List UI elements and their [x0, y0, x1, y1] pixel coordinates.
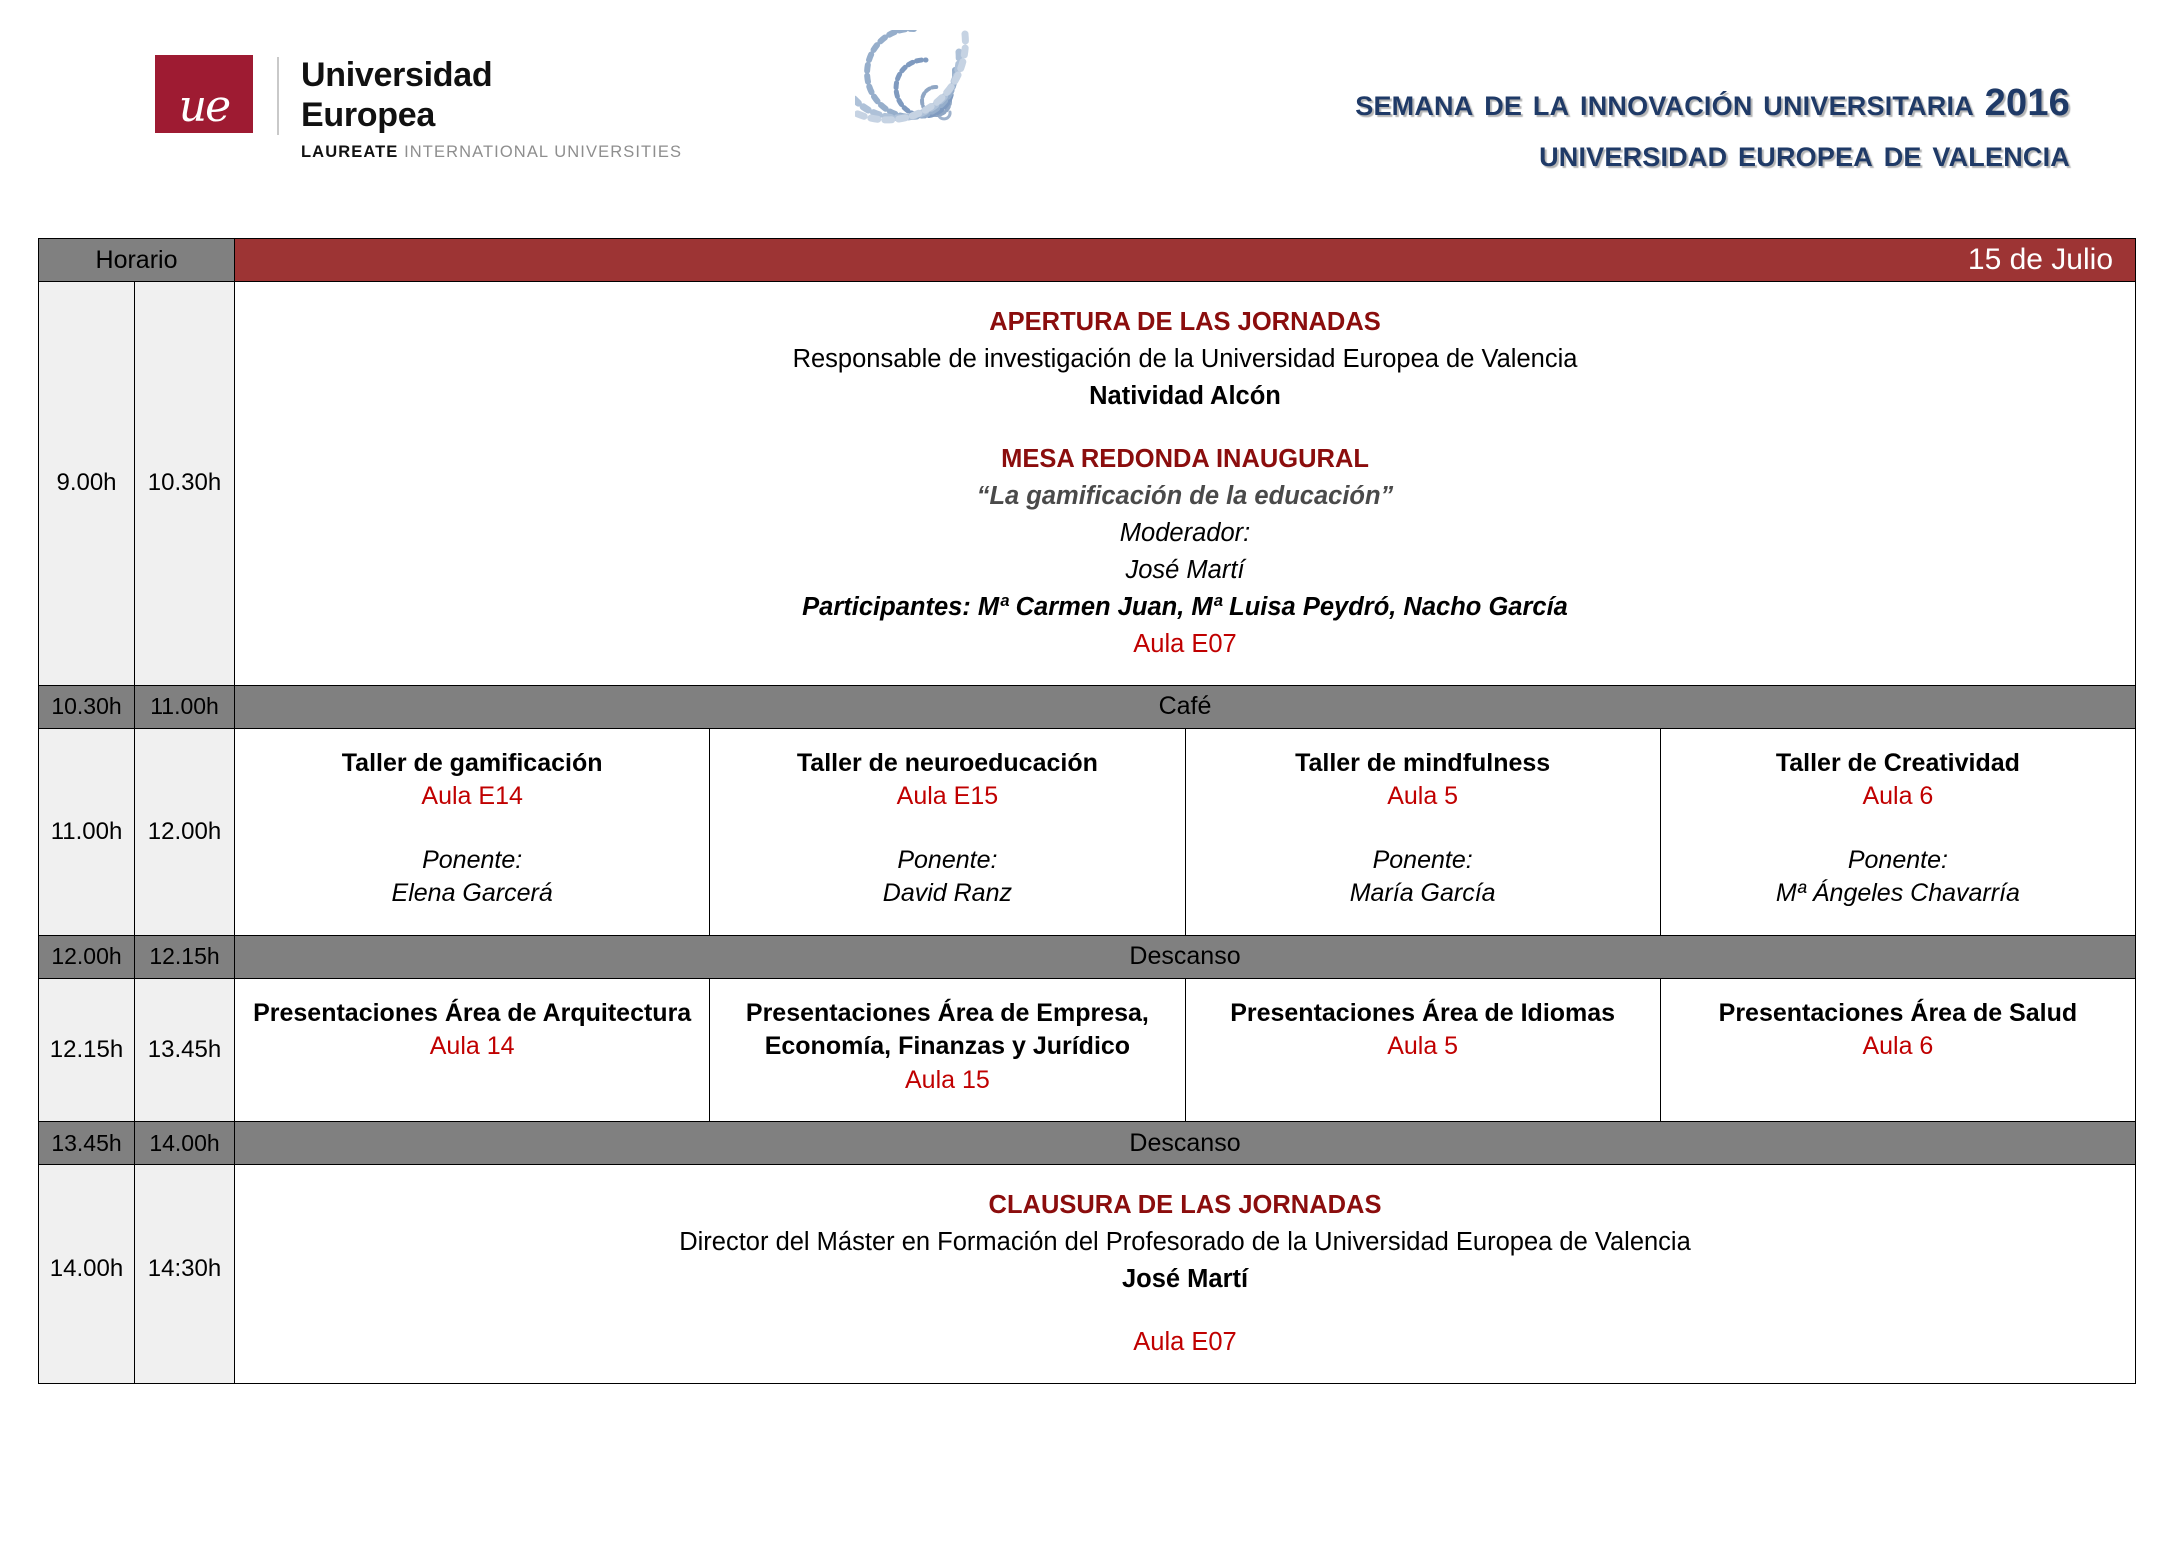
- logo-divider: [277, 57, 279, 135]
- roundtable-role: Moderador:: [245, 515, 2125, 552]
- workshop-aula: Aula 6: [1673, 780, 2123, 814]
- presentation-cell: Presentaciones Área de Idiomas Aula 5: [1186, 979, 1661, 1122]
- workshop-cell: Taller de gamificación Aula E14 Ponente:…: [235, 729, 710, 935]
- workshop-role: Ponente:: [247, 844, 697, 878]
- workshop-aula: Aula E14: [247, 780, 697, 814]
- event-title-line-2: Universidad Europea de Valencia: [1355, 129, 2070, 180]
- ue-monogram: ue: [155, 85, 253, 129]
- time-end: 14.00h: [135, 1122, 235, 1165]
- event-title-line-1: Semana de la Innovación Universitaria 20…: [1355, 78, 2070, 129]
- time-start: 14.00h: [39, 1165, 135, 1384]
- presentation-cell: Presentaciones Área de Salud Aula 6: [1661, 979, 2135, 1122]
- block-spacer: [245, 415, 2125, 441]
- time-start: 11.00h: [39, 728, 135, 935]
- workshops-row: Taller de gamificación Aula E14 Ponente:…: [235, 728, 2136, 935]
- closing-title: CLAUSURA DE LAS JORNADAS: [245, 1187, 2125, 1224]
- break-label: Café: [235, 685, 2136, 728]
- time-end: 13.45h: [135, 978, 235, 1122]
- closing-subtitle: Director del Máster en Formación del Pro…: [245, 1224, 2125, 1261]
- header-day: 15 de Julio: [235, 239, 2136, 282]
- presentation-title: Presentaciones Área de Idiomas: [1198, 997, 1648, 1031]
- session-subtitle: Responsable de investigación de la Unive…: [245, 341, 2125, 378]
- time-start: 10.30h: [39, 685, 135, 728]
- workshop-cell: Taller de neuroeducación Aula E15 Ponent…: [710, 729, 1185, 935]
- workshop-role: Ponente:: [1673, 844, 2123, 878]
- header-horario: Horario: [39, 239, 235, 282]
- laureate-rest: INTERNATIONAL UNIVERSITIES: [404, 143, 682, 161]
- workshop-title: Taller de mindfulness: [1198, 747, 1648, 781]
- roundtable-participants: Participantes: Mª Carmen Juan, Mª Luisa …: [245, 589, 2125, 626]
- laureate-bold: LAUREATE: [301, 143, 398, 161]
- workshop-title: Taller de Creatividad: [1673, 747, 2123, 781]
- time-end: 14:30h: [135, 1165, 235, 1384]
- workshop-speaker: David Ranz: [722, 877, 1172, 911]
- logo-word-universidad: Universidad: [301, 55, 492, 95]
- time-start: 13.45h: [39, 1122, 135, 1165]
- roundtable-quote: “La gamificación de la educación”: [245, 478, 2125, 515]
- universidad-europea-logo: ue Universidad Europea: [155, 55, 492, 135]
- workshop-title: Taller de gamificación: [247, 747, 697, 781]
- workshop-speaker: Mª Ángeles Chavarría: [1673, 877, 2123, 911]
- session-person: Natividad Alcón: [245, 378, 2125, 415]
- presentation-aula: Aula 15: [722, 1064, 1172, 1098]
- workshop-cell: Taller de mindfulness Aula 5 Ponente: Ma…: [1186, 729, 1661, 935]
- roundtable-moderator: José Martí: [245, 552, 2125, 589]
- logo-wordmark: Universidad Europea: [301, 55, 492, 135]
- spiral-emblem-icon: [855, 30, 1045, 190]
- table-row: 10.30h 11.00h Café: [39, 685, 2136, 728]
- table-header-row: Horario 15 de Julio: [39, 239, 2136, 282]
- schedule-table: Horario 15 de Julio 9.00h 10.30h APERTUR…: [38, 238, 2136, 1384]
- break-label: Descanso: [235, 935, 2136, 978]
- block-spacer: [245, 1298, 2125, 1324]
- session-closing: CLAUSURA DE LAS JORNADAS Director del Má…: [235, 1165, 2136, 1384]
- closing-person: José Martí: [245, 1261, 2125, 1298]
- presentation-aula: Aula 14: [247, 1030, 697, 1064]
- laureate-tagline: LAUREATE INTERNATIONAL UNIVERSITIES: [301, 143, 682, 162]
- presentation-title: Presentaciones Área de Arquitectura: [247, 997, 697, 1031]
- time-end: 11.00h: [135, 685, 235, 728]
- workshop-title: Taller de neuroeducación: [722, 747, 1172, 781]
- closing-aula: Aula E07: [245, 1324, 2125, 1361]
- roundtable-title: MESA REDONDA INAUGURAL: [245, 441, 2125, 478]
- table-row: 13.45h 14.00h Descanso: [39, 1122, 2136, 1165]
- workshop-speaker: Elena Garcerá: [247, 877, 697, 911]
- presentations-row: Presentaciones Área de Arquitectura Aula…: [235, 978, 2136, 1122]
- session-title: APERTURA DE LAS JORNADAS: [245, 304, 2125, 341]
- cell-spacer: [1198, 814, 1648, 844]
- time-start: 9.00h: [39, 282, 135, 686]
- workshop-speaker: María García: [1198, 877, 1648, 911]
- time-start: 12.15h: [39, 978, 135, 1122]
- presentation-cell: Presentaciones Área de Arquitectura Aula…: [235, 979, 710, 1122]
- workshop-role: Ponente:: [722, 844, 1172, 878]
- time-end: 12.15h: [135, 935, 235, 978]
- ue-logo-mark: ue: [155, 55, 253, 133]
- roundtable-aula: Aula E07: [245, 626, 2125, 663]
- presentation-title: Presentaciones Área de Empresa, Economía…: [722, 997, 1172, 1064]
- table-row: 12.15h 13.45h Presentaciones Área de Arq…: [39, 978, 2136, 1122]
- cell-spacer: [722, 814, 1172, 844]
- workshop-role: Ponente:: [1198, 844, 1648, 878]
- cell-spacer: [1673, 814, 2123, 844]
- presentation-aula: Aula 6: [1673, 1030, 2123, 1064]
- time-end: 10.30h: [135, 282, 235, 686]
- event-title-block: Semana de la Innovación Universitaria 20…: [1355, 78, 2070, 179]
- presentation-aula: Aula 5: [1198, 1030, 1648, 1064]
- time-start: 12.00h: [39, 935, 135, 978]
- page-header: ue Universidad Europea LAUREATE INTERNAT…: [0, 0, 2178, 215]
- cell-spacer: [247, 814, 697, 844]
- logo-word-europea: Europea: [301, 95, 492, 135]
- workshop-aula: Aula E15: [722, 780, 1172, 814]
- workshop-aula: Aula 5: [1198, 780, 1648, 814]
- presentation-cell: Presentaciones Área de Empresa, Economía…: [710, 979, 1185, 1122]
- time-end: 12.00h: [135, 728, 235, 935]
- table-row: 12.00h 12.15h Descanso: [39, 935, 2136, 978]
- presentation-title: Presentaciones Área de Salud: [1673, 997, 2123, 1031]
- table-row: 9.00h 10.30h APERTURA DE LAS JORNADAS Re…: [39, 282, 2136, 686]
- session-opening: APERTURA DE LAS JORNADAS Responsable de …: [235, 282, 2136, 686]
- table-row: 14.00h 14:30h CLAUSURA DE LAS JORNADAS D…: [39, 1165, 2136, 1384]
- workshop-cell: Taller de Creatividad Aula 6 Ponente: Mª…: [1661, 729, 2135, 935]
- table-row: 11.00h 12.00h Taller de gamificación Aul…: [39, 728, 2136, 935]
- break-label: Descanso: [235, 1122, 2136, 1165]
